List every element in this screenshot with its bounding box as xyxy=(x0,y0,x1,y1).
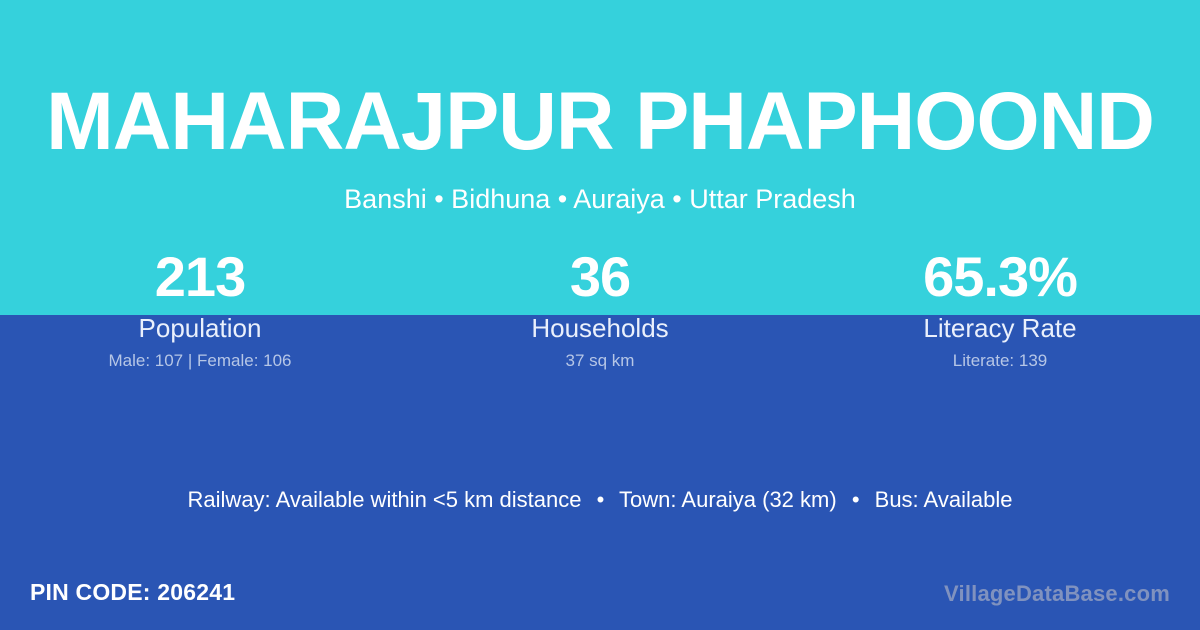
transport-separator-2: • xyxy=(843,485,869,515)
pin-code: PIN CODE: 206241 xyxy=(30,578,235,607)
stat-households: 36 Households 37 sq km xyxy=(400,246,800,371)
breadcrumb: Banshi • Bidhuna • Auraiya • Uttar Prade… xyxy=(0,183,1200,216)
stat-households-label: Households xyxy=(400,313,800,344)
brand-watermark: VillageDataBase.com xyxy=(944,580,1170,608)
village-info-card: MAHARAJPUR PHAPHOOND Banshi • Bidhuna • … xyxy=(0,0,1200,630)
transport-bus: Bus: Available xyxy=(875,487,1013,512)
stat-population-sub: Male: 107 | Female: 106 xyxy=(0,350,400,371)
stat-population: 213 Population Male: 107 | Female: 106 xyxy=(0,246,400,371)
stat-households-value: 36 xyxy=(400,246,800,308)
transport-info: Railway: Available within <5 km distance… xyxy=(0,485,1200,515)
transport-town: Town: Auraiya (32 km) xyxy=(619,487,837,512)
transport-railway: Railway: Available within <5 km distance xyxy=(188,487,582,512)
stats-row: 213 Population Male: 107 | Female: 106 3… xyxy=(0,246,1200,371)
transport-separator-1: • xyxy=(588,485,614,515)
stat-households-sub: 37 sq km xyxy=(400,350,800,371)
stat-literacy-rate: 65.3% Literacy Rate Literate: 139 xyxy=(800,246,1200,371)
stat-literacy-rate-value: 65.3% xyxy=(800,246,1200,308)
stat-literacy-rate-sub: Literate: 139 xyxy=(800,350,1200,371)
page-title: MAHARAJPUR PHAPHOOND xyxy=(6,78,1194,166)
stat-literacy-rate-label: Literacy Rate xyxy=(800,313,1200,344)
stat-population-value: 213 xyxy=(0,246,400,308)
stat-population-label: Population xyxy=(0,313,400,344)
